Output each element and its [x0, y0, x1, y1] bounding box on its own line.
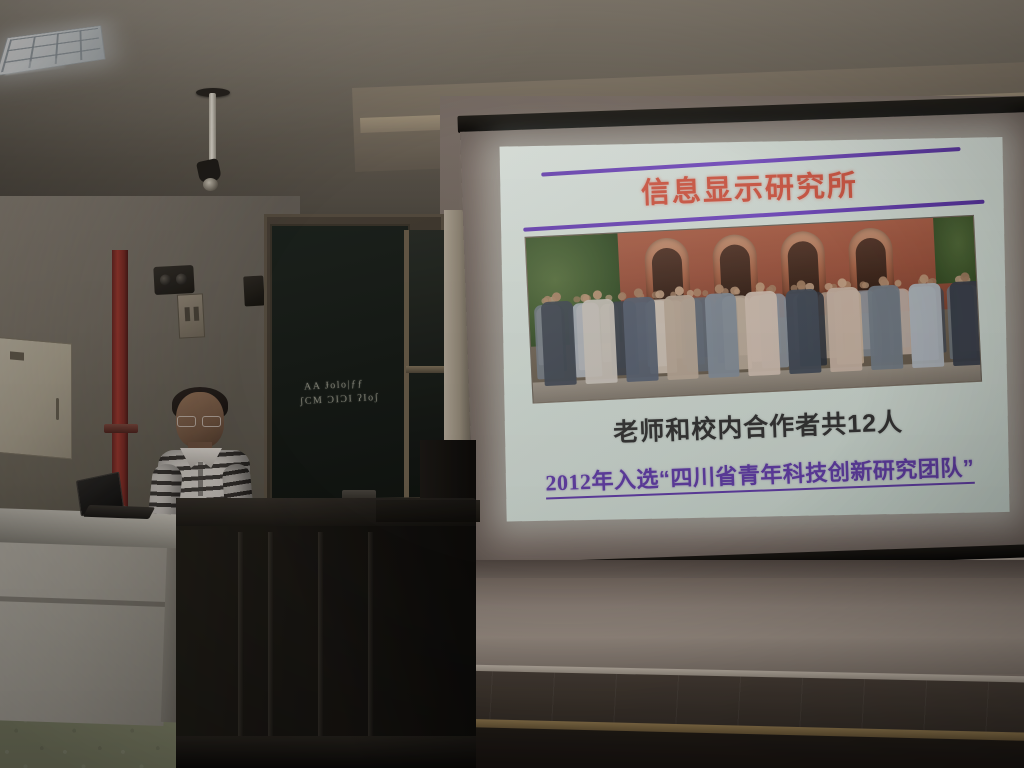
photo-person-head	[693, 288, 702, 297]
slide-group-photo	[524, 215, 982, 404]
photo-person	[704, 292, 740, 377]
photo-person	[949, 280, 982, 365]
lecture-hall-scene: AA Ɉolo|ƒƒ ʃCM ƆIƆI ʔIoʃ 信息显示研究所	[0, 0, 1024, 768]
presenter-placket	[198, 462, 203, 496]
wall-speaker-icon	[153, 265, 194, 295]
photo-person	[581, 298, 617, 383]
control-desk-body	[0, 534, 170, 726]
photo-person-head	[573, 296, 580, 303]
slide-caption-rest: 年入选“四川省青年科技创新研究团队”	[591, 455, 975, 494]
photo-person	[786, 288, 822, 373]
photo-person	[908, 282, 944, 367]
wall-outlet-plate	[177, 293, 205, 338]
projector-lens-icon	[203, 178, 218, 191]
photo-person-head	[592, 290, 601, 299]
wall-speaker-small-icon	[243, 275, 265, 306]
blackboard	[270, 224, 410, 532]
photo-person-head	[552, 292, 561, 301]
pipe-bracket	[104, 424, 138, 433]
photo-person-head	[674, 286, 683, 295]
laptop-keyboard[interactable]	[83, 505, 155, 519]
projected-slide: 信息显示研究所 老师和校内合作者共12人	[499, 137, 1009, 522]
projector-mount-pole	[209, 93, 216, 165]
photo-crowd	[528, 262, 980, 386]
projection-screen: 信息显示研究所 老师和校内合作者共12人	[457, 84, 1024, 582]
photo-person	[867, 284, 903, 369]
panel-label-tag	[10, 351, 24, 360]
door-rail	[406, 366, 448, 373]
photo-person	[541, 300, 577, 385]
slide-caption-primary: 老师和校内合作者共12人	[506, 398, 1010, 452]
photo-person-head	[756, 282, 765, 291]
photo-person	[745, 290, 781, 375]
photo-person	[622, 296, 658, 381]
slide-caption-year: 2012	[545, 469, 592, 496]
stage-back-wall	[440, 578, 1024, 674]
photo-person-head	[655, 290, 664, 299]
photo-person	[663, 294, 699, 379]
panel-handle	[56, 398, 59, 420]
lectern-shading	[176, 498, 476, 768]
eyeglasses-icon	[177, 416, 221, 425]
photo-person	[827, 286, 863, 371]
slide-title: 信息显示研究所	[499, 157, 1001, 217]
slide-caption-secondary: 2012年入选“四川省青年科技创新研究团队”	[508, 448, 1010, 498]
